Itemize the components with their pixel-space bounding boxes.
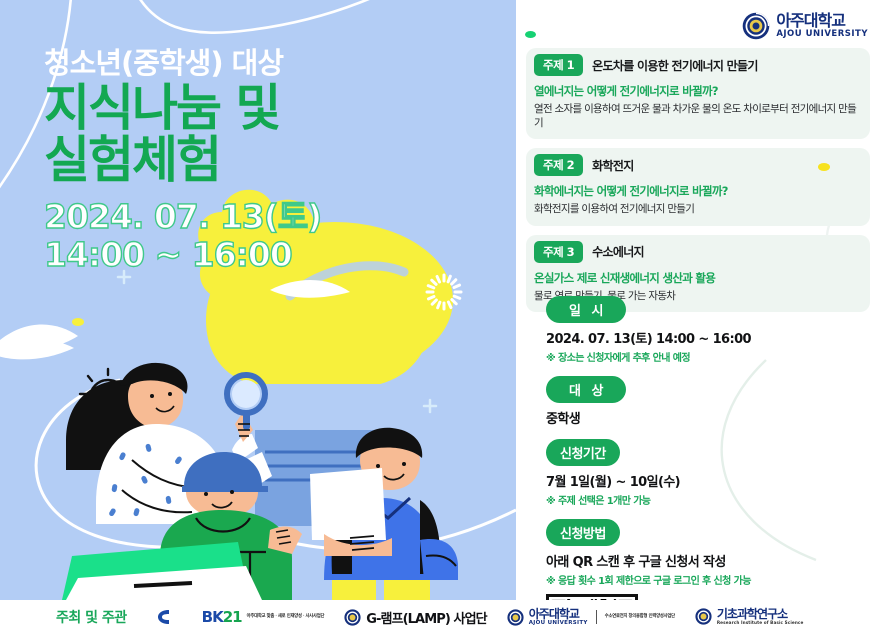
headline-date-line2: 14:00 ~ 16:00 bbox=[44, 236, 494, 274]
basic-science-name-kr: 기초과학연구소 bbox=[717, 608, 804, 620]
topic-title: 온도차를 이용한 전기에너지 만들기 bbox=[592, 57, 758, 74]
headline-title-line1: 지식나눔 및 bbox=[44, 79, 279, 137]
headline-title: 지식나눔 및 실험체험 bbox=[44, 82, 494, 186]
ajou-hydrogen-names: 아주대학교 AJOU UNIVERSITY bbox=[529, 608, 588, 627]
headline-date: 2024. 07. 13(토) 14:00 ~ 16:00 bbox=[44, 198, 494, 273]
topic-question: 온실가스 제로 신재생에너지 생산과 활용 bbox=[534, 270, 862, 286]
info-block-audience: 대 상 중학생 bbox=[546, 376, 876, 427]
sponsor-g-lamp: G-램프(LAMP) 사업단 bbox=[344, 608, 486, 627]
ajou-university-logo: 아주대학교 AJOU UNIVERSITY bbox=[742, 12, 868, 40]
topic-badge: 주제 2 bbox=[534, 154, 583, 176]
bk21-mark: BK21 bbox=[202, 608, 242, 626]
topic-description: 열전 소자를 이용하여 뜨거운 물과 차가운 물의 온도 차이로부터 전기에너지… bbox=[534, 102, 862, 130]
info-main-period: 7월 1일(월) ~ 10일(수) bbox=[546, 471, 876, 490]
topic-question: 화학에너지는 어떻게 전기에너지로 바뀔까? bbox=[534, 183, 862, 199]
topic-card: 주제 2 화학전지 화학에너지는 어떻게 전기에너지로 바뀔까? 화학전지를 이… bbox=[526, 148, 870, 225]
ajou-hydrogen-name-en: AJOU UNIVERSITY bbox=[529, 621, 588, 627]
ajou-logo-text: 아주대학교 AJOU UNIVERSITY bbox=[776, 13, 868, 39]
info-block-period: 신청기간 7월 1일(월) ~ 10일(수) ※ 주제 선택은 1개만 가능 bbox=[546, 439, 876, 507]
ajou-seal-icon bbox=[507, 609, 524, 626]
green-dot-decoration bbox=[525, 31, 536, 38]
topic-header: 주제 1 온도차를 이용한 전기에너지 만들기 bbox=[534, 54, 862, 76]
info-main-apply: 아래 QR 스캔 후 구글 신청서 작성 bbox=[546, 551, 876, 570]
poster-headline: 청소년(중학생) 대상 지식나눔 및 실험체험 2024. 07. 13(토) … bbox=[44, 48, 494, 273]
info-main-datetime: 2024. 07. 13(토) 14:00 ~ 16:00 bbox=[546, 328, 876, 347]
topic-list: 주제 1 온도차를 이용한 전기에너지 만들기 열에너지는 어떻게 전기에너지로… bbox=[526, 48, 870, 321]
info-pill-audience: 대 상 bbox=[546, 376, 626, 403]
topic-badge: 주제 1 bbox=[534, 54, 583, 76]
topic-badge: 주제 3 bbox=[534, 241, 583, 263]
info-pill-period: 신청기간 bbox=[546, 439, 620, 466]
ajou-name-kr: 아주대학교 bbox=[776, 13, 868, 29]
headline-date-line1: 2024. 07. 13(토) bbox=[44, 197, 321, 236]
ajou-hydrogen-sublines: 수소연료전지 창의융합형 인력양성사업단 bbox=[605, 614, 675, 620]
sponsor-ajou-hydrogen: 아주대학교 AJOU UNIVERSITY 수소연료전지 창의융합형 인력양성사… bbox=[507, 608, 675, 627]
sponsor-basic-science: 기초과학연구소 Research Institute of Basic Scie… bbox=[695, 608, 804, 625]
headline-title-line2: 실험체험 bbox=[44, 134, 494, 186]
bk21-sublines: 아주대학교 맞춤ㆍ새로 인재양성ㆍ사사사업단 bbox=[247, 614, 325, 620]
info-pill-apply: 신청방법 bbox=[546, 519, 620, 546]
sponsor-bk21: BK21 아주대학교 맞춤ㆍ새로 인재양성ㆍ사사사업단 bbox=[157, 608, 325, 626]
poster-left-panel: 청소년(중학생) 대상 지식나눔 및 실험체험 2024. 07. 13(토) … bbox=[0, 0, 516, 600]
footer-label: 주최 및 주관 bbox=[56, 607, 127, 627]
info-block-apply: 신청방법 아래 QR 스캔 후 구글 신청서 작성 ※ 응답 횟수 1회 제한으… bbox=[546, 519, 876, 600]
topic-header: 주제 3 수소에너지 bbox=[534, 241, 862, 263]
basic-science-names: 기초과학연구소 Research Institute of Basic Scie… bbox=[717, 608, 804, 625]
topic-title: 수소에너지 bbox=[592, 243, 644, 260]
bk21-logo-icon bbox=[157, 608, 197, 626]
ajou-seal-icon bbox=[344, 609, 361, 626]
topic-header: 주제 2 화학전지 bbox=[534, 154, 862, 176]
info-note-period: ※ 주제 선택은 1개만 가능 bbox=[546, 492, 876, 507]
poster-right-panel: 아주대학교 AJOU UNIVERSITY 주제 1 온도차를 이용한 전기에너… bbox=[516, 0, 880, 600]
topic-title: 화학전지 bbox=[592, 157, 633, 174]
info-block-datetime: 일 시 2024. 07. 13(토) 14:00 ~ 16:00 ※ 장소는 … bbox=[546, 296, 876, 364]
ajou-seal-icon bbox=[695, 608, 712, 625]
ajou-name-en: AJOU UNIVERSITY bbox=[776, 30, 868, 39]
info-note-datetime: ※ 장소는 신청자에게 추후 안내 예정 bbox=[546, 349, 876, 364]
info-note-apply: ※ 응답 횟수 1회 제한으로 구글 로그인 후 신청 가능 bbox=[546, 572, 876, 587]
yellow-dot-decoration bbox=[818, 163, 830, 171]
basic-science-name-en: Research Institute of Basic Science bbox=[717, 621, 804, 625]
info-sections: 일 시 2024. 07. 13(토) 14:00 ~ 16:00 ※ 장소는 … bbox=[546, 296, 876, 600]
poster-footer: 주최 및 주관 BK21 아주대학교 맞춤ㆍ새로 인재양성ㆍ사사사업단 G-램프… bbox=[0, 600, 880, 634]
topic-card: 주제 1 온도차를 이용한 전기에너지 만들기 열에너지는 어떻게 전기에너지로… bbox=[526, 48, 870, 139]
headline-kicker: 청소년(중학생) 대상 bbox=[44, 48, 494, 80]
g-lamp-name: G-램프(LAMP) 사업단 bbox=[366, 608, 486, 627]
info-main-audience: 중학생 bbox=[546, 408, 876, 427]
info-pill-datetime: 일 시 bbox=[546, 296, 626, 323]
event-poster: 청소년(중학생) 대상 지식나눔 및 실험체험 2024. 07. 13(토) … bbox=[0, 0, 880, 634]
ajou-hydrogen-name-kr: 아주대학교 bbox=[529, 608, 588, 620]
topic-description: 화학전지를 이용하여 전기에너지 만들기 bbox=[534, 202, 862, 216]
ajou-seal-icon bbox=[742, 12, 770, 40]
sponsor-divider bbox=[596, 610, 597, 624]
topic-question: 열에너지는 어떻게 전기에너지로 바뀔까? bbox=[534, 83, 862, 99]
